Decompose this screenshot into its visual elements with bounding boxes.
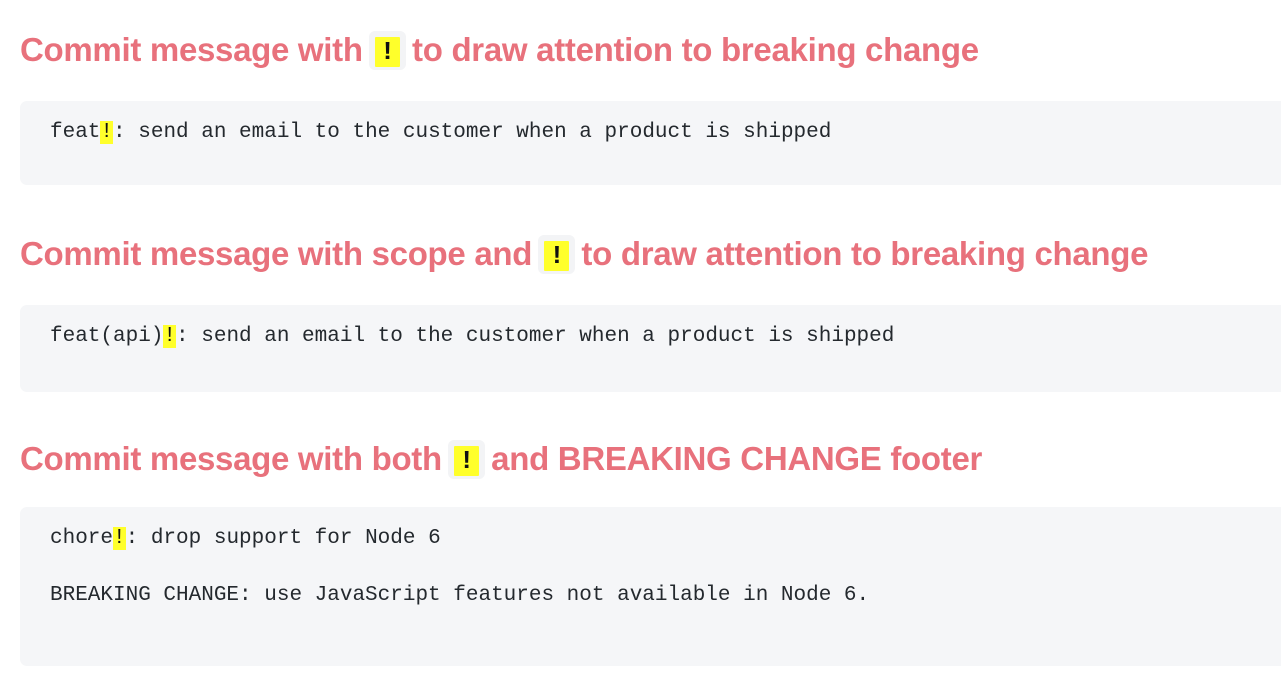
highlight-mark: ! bbox=[100, 121, 113, 144]
inline-code-bang: ! bbox=[369, 31, 406, 70]
section-heading-2: Commit message with scope and ! to draw … bbox=[0, 234, 1168, 274]
code-text-before: feat bbox=[50, 121, 100, 144]
section-heading-3: Commit message with both ! and BREAKING … bbox=[0, 439, 1002, 479]
code-line: BREAKING CHANGE: use JavaScript features… bbox=[50, 584, 869, 607]
heading-text-after: to draw attention to breaking change bbox=[581, 234, 1148, 274]
code-block-3[interactable]: chore!: drop support for Node 6 BREAKING… bbox=[20, 507, 1281, 666]
heading-text-before: Commit message with scope and bbox=[20, 234, 532, 274]
highlight-mark: ! bbox=[454, 446, 479, 476]
code-text-after: : drop support for Node 6 bbox=[126, 527, 441, 550]
inline-code-bang: ! bbox=[538, 235, 575, 274]
highlight-mark: ! bbox=[163, 325, 176, 348]
code-text-before: BREAKING CHANGE: use JavaScript features… bbox=[50, 584, 869, 607]
code-line: feat!: send an email to the customer whe… bbox=[50, 121, 831, 144]
code-text-after: : send an email to the customer when a p… bbox=[176, 325, 894, 348]
inline-code-bang: ! bbox=[448, 440, 485, 479]
code-text-before: feat(api) bbox=[50, 325, 163, 348]
highlight-mark: ! bbox=[113, 527, 126, 550]
heading-text-before: Commit message with bbox=[20, 30, 363, 70]
code-block-2[interactable]: feat(api)!: send an email to the custome… bbox=[20, 305, 1281, 392]
code-line: feat(api)!: send an email to the custome… bbox=[50, 325, 894, 348]
code-block-1[interactable]: feat!: send an email to the customer whe… bbox=[20, 101, 1281, 185]
heading-text-after: and BREAKING CHANGE footer bbox=[491, 439, 982, 479]
heading-text-after: to draw attention to breaking change bbox=[412, 30, 979, 70]
code-line: chore!: drop support for Node 6 bbox=[50, 527, 441, 550]
section-heading-1: Commit message with ! to draw attention … bbox=[0, 30, 999, 70]
code-text-before: chore bbox=[50, 527, 113, 550]
highlight-mark: ! bbox=[375, 37, 400, 67]
code-text-after: : send an email to the customer when a p… bbox=[113, 121, 831, 144]
document-page: Commit message with ! to draw attention … bbox=[0, 0, 1281, 680]
heading-text-before: Commit message with both bbox=[20, 439, 442, 479]
highlight-mark: ! bbox=[544, 241, 569, 271]
